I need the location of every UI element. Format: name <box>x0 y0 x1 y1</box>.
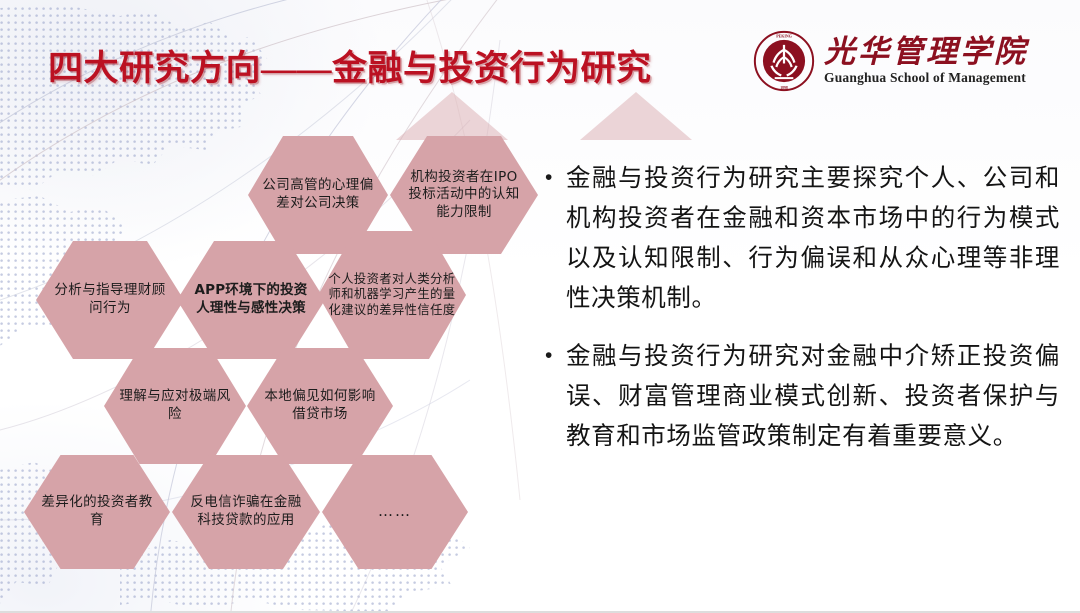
hex-label: 机构投资者在IPO投标活动中的认知能力限制 <box>390 169 538 222</box>
hex-more[interactable]: …… <box>322 455 468 569</box>
hex-label: 公司高管的心理偏差对公司决策 <box>248 177 388 212</box>
hex-label: 反电信诈骗在金融科技贷款的应用 <box>172 494 320 529</box>
bullet-list: • 金融与投资行为研究主要探究个人、公司和机构投资者在金融和资本市场中的行为模式… <box>540 158 1060 474</box>
hex-antifraud-fintech-lending[interactable]: 反电信诈骗在金融科技贷款的应用 <box>172 455 320 569</box>
hex-local-bias-lending[interactable]: 本地偏见如何影响借贷市场 <box>247 348 393 464</box>
hex-label: 本地偏见如何影响借贷市场 <box>247 388 393 423</box>
bullet-marker-icon: • <box>540 158 566 198</box>
bullet-research-significance: • 金融与投资行为研究对金融中介矫正投资偏误、财富管理商业模式创新、投资者保护与… <box>540 336 1060 456</box>
logo-wordmark: 光华管理学院 Guanghua School of Management <box>824 36 1028 87</box>
bullet-text: 金融与投资行为研究主要探究个人、公司和机构投资者在金融和资本市场中的行为模式以及… <box>566 158 1060 318</box>
logo-name-cn: 光华管理学院 <box>824 36 1028 69</box>
hex-label: 分析与指导理财顾问行为 <box>36 282 184 317</box>
hex-app-rational-emotional[interactable]: APP环境下的投资人理性与感性决策 <box>177 241 325 359</box>
logo-name-en: Guanghua School of Management <box>824 70 1026 86</box>
hex-label: 理解与应对极端风险 <box>104 388 246 423</box>
bullet-marker-icon: • <box>540 336 566 376</box>
hex-advisor-behavior[interactable]: 分析与指导理财顾问行为 <box>36 241 184 359</box>
hex-differentiated-investor-education[interactable]: 差异化的投资者教育 <box>24 455 170 569</box>
hex-label: 差异化的投资者教育 <box>24 494 170 529</box>
hex-label: APP环境下的投资人理性与感性决策 <box>177 282 325 317</box>
bullet-research-scope: • 金融与投资行为研究主要探究个人、公司和机构投资者在金融和资本市场中的行为模式… <box>540 158 1060 318</box>
guanghua-logo: PEKING 1898 光华管理学院 Guanghua School of Ma… <box>753 30 1028 92</box>
svg-text:PEKING: PEKING <box>776 33 792 38</box>
peking-university-seal-icon: PEKING 1898 <box>753 30 815 92</box>
hex-label: 个人投资者对人类分析师和机器学习产生的量化建议的差异性信任度 <box>318 272 466 318</box>
hexagon-cluster: 公司高管的心理偏差对公司决策 机构投资者在IPO投标活动中的认知能力限制 分析与… <box>0 0 560 613</box>
bullet-text: 金融与投资行为研究对金融中介矫正投资偏误、财富管理商业模式创新、投资者保护与教育… <box>566 336 1060 456</box>
slide-canvas: 四大研究方向——金融与投资行为研究 PEKING 1898 光华管理学院 <box>0 0 1080 613</box>
svg-text:1898: 1898 <box>780 86 788 90</box>
hex-label: …… <box>364 502 426 522</box>
hex-extreme-risk[interactable]: 理解与应对极端风险 <box>104 348 246 464</box>
